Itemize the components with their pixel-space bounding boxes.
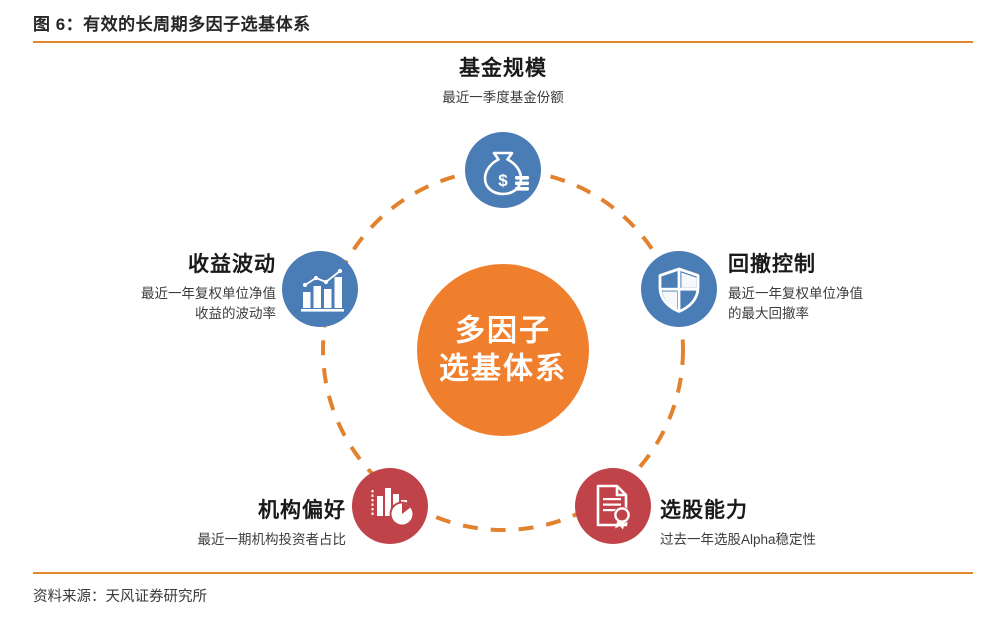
node-text-drawdown-control: 回撤控制 最近一年复权单位净值 的最大回撤率 bbox=[728, 248, 988, 323]
figure-page: 图 6：有效的长周期多因子选基体系 $ bbox=[0, 0, 1006, 618]
page-title: 图 6：有效的长周期多因子选基体系 bbox=[33, 10, 311, 35]
node-desc-line: 过去一年选股Alpha稳定性 bbox=[660, 530, 960, 550]
node-desc-return-volatility: 最近一年复权单位净值 收益的波动率 bbox=[16, 284, 276, 323]
node-desc-stock-picking: 过去一年选股Alpha稳定性 bbox=[660, 530, 960, 550]
node-title-stock-picking: 选股能力 bbox=[660, 494, 960, 524]
node-text-stock-picking: 选股能力 过去一年选股Alpha稳定性 bbox=[660, 494, 960, 550]
node-desc-line: 最近一期机构投资者占比 bbox=[46, 530, 346, 550]
node-title-return-volatility: 收益波动 bbox=[16, 248, 276, 278]
node-desc-line: 最近一季度基金份额 bbox=[343, 88, 663, 108]
node-desc-line: 收益的波动率 bbox=[16, 304, 276, 324]
node-drawdown-control[interactable] bbox=[641, 251, 717, 327]
source-note: 资料来源：天风证券研究所 bbox=[33, 585, 207, 606]
node-stock-picking[interactable] bbox=[575, 468, 651, 544]
node-text-institutional-preference: 机构偏好 最近一期机构投资者占比 bbox=[46, 494, 346, 550]
node-institutional-preference[interactable] bbox=[352, 468, 428, 544]
node-desc-drawdown-control: 最近一年复权单位净值 的最大回撤率 bbox=[728, 284, 988, 323]
node-desc-institutional-preference: 最近一期机构投资者占比 bbox=[46, 530, 346, 550]
node-title-institutional-preference: 机构偏好 bbox=[46, 494, 346, 524]
node-return-volatility[interactable] bbox=[282, 251, 358, 327]
node-text-return-volatility: 收益波动 最近一年复权单位净值 收益的波动率 bbox=[16, 248, 276, 323]
node-desc-line: 最近一年复权单位净值 bbox=[16, 284, 276, 304]
multifactor-diagram: $ bbox=[0, 44, 1006, 572]
svg-text:$: $ bbox=[498, 171, 508, 190]
hub-circle bbox=[417, 264, 589, 436]
node-circle-stock-picking bbox=[575, 468, 651, 544]
node-desc-line: 的最大回撤率 bbox=[728, 304, 988, 324]
source-divider bbox=[33, 572, 973, 574]
node-desc-line: 最近一年复权单位净值 bbox=[728, 284, 988, 304]
node-title-drawdown-control: 回撤控制 bbox=[728, 248, 988, 278]
node-title-fund-scale: 基金规模 bbox=[343, 52, 663, 82]
node-desc-fund-scale: 最近一季度基金份额 bbox=[343, 88, 663, 108]
node-circle-fund-scale bbox=[465, 132, 541, 208]
node-text-fund-scale: 基金规模 最近一季度基金份额 bbox=[343, 52, 663, 108]
node-fund-scale[interactable]: $ bbox=[465, 132, 541, 208]
title-divider bbox=[33, 41, 973, 43]
